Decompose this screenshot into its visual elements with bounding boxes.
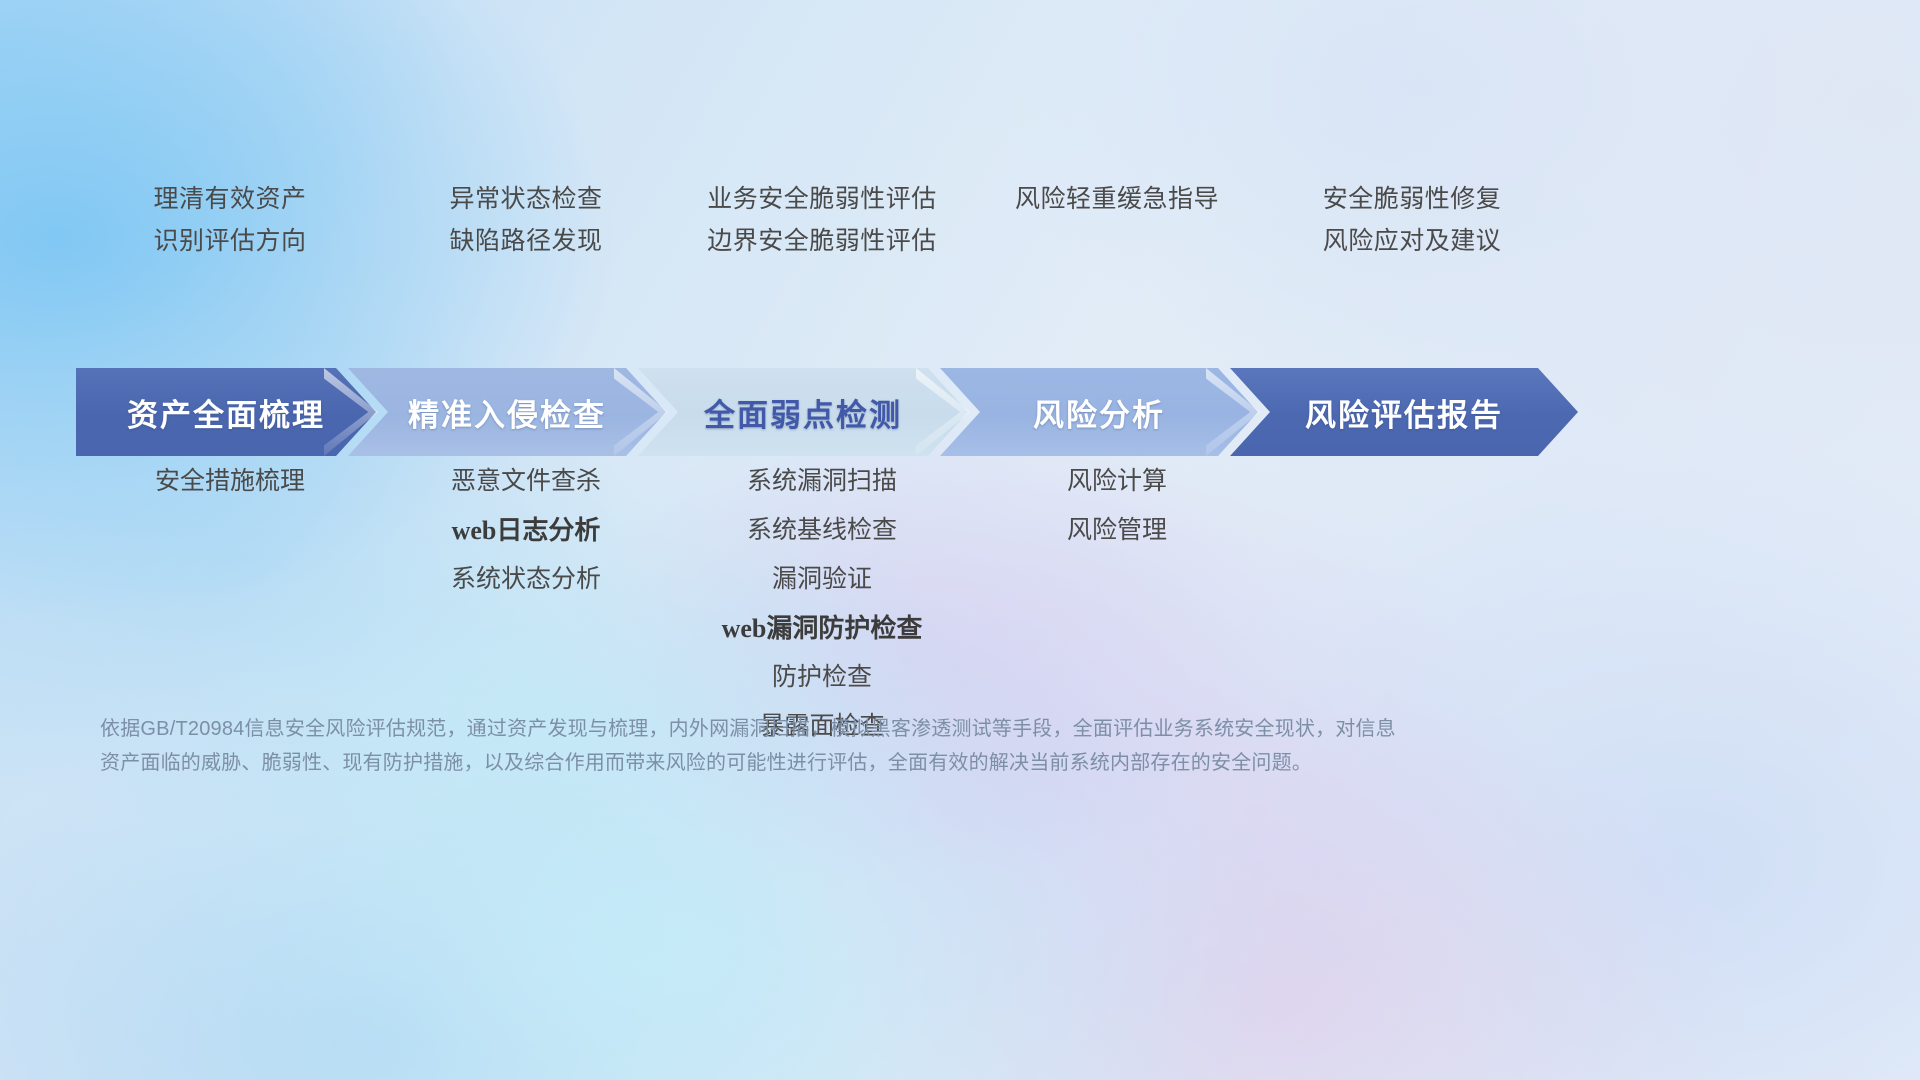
top-caption-2-line-2: 缺陷路径发现 (380, 220, 672, 262)
top-caption-1-line-1: 理清有效资产 (80, 178, 380, 220)
top-caption-1: 理清有效资产 识别评估方向 (80, 178, 380, 262)
list-item: 系统状态分析 (380, 555, 672, 604)
list-item: 防护检查 (672, 653, 972, 702)
top-caption-4-line-1: 风险轻重缓急指导 (972, 178, 1262, 220)
top-caption-5-line-2: 风险应对及建议 (1262, 220, 1562, 262)
stage-chevron-4[interactable]: 风险分析 (940, 368, 1258, 456)
top-caption-2-line-1: 异常状态检查 (380, 178, 672, 220)
stage-chevron-3[interactable]: 全面弱点检测 (638, 368, 968, 456)
top-caption-3-line-1: 业务安全脆弱性评估 (672, 178, 972, 220)
top-caption-4: 风险轻重缓急指导 (972, 178, 1262, 262)
detail-list-3: web安全扫描 系统漏洞扫描 系统基线检查 漏洞验证 web漏洞防护检查 防护检… (672, 408, 972, 751)
stage-label-5: 风险评估报告 (1305, 390, 1503, 435)
footer-description: 依据GB/T20984信息安全风险评估规范，通过资产发现与梳理，内外网漏洞扫描，… (100, 712, 1630, 780)
list-item: 漏洞验证 (672, 555, 972, 604)
stage-label-4: 风险分析 (1033, 390, 1165, 435)
list-item: web日志分析 (380, 506, 672, 555)
stage-chevron-5[interactable]: 风险评估报告 (1230, 368, 1578, 456)
stage-chevron-2[interactable]: 精准入侵检查 (348, 368, 666, 456)
list-item: 安全措施梳理 (80, 457, 380, 506)
top-caption-2: 异常状态检查 缺陷路径发现 (380, 178, 672, 262)
list-item: 风险计算 (972, 457, 1262, 506)
list-item: web漏洞防护检查 (672, 604, 972, 653)
stage-label-1: 资产全面梳理 (127, 390, 325, 435)
list-item: 系统漏洞扫描 (672, 457, 972, 506)
list-item: 恶意文件查杀 (380, 457, 672, 506)
footer-line-1: 依据GB/T20984信息安全风险评估规范，通过资产发现与梳理，内外网漏洞扫描，… (100, 712, 1630, 746)
infographic-content: 理清有效资产 识别评估方向 异常状态检查 缺陷路径发现 业务安全脆弱性评估 边界… (0, 0, 1920, 1080)
stage-chevron-1[interactable]: 资产全面梳理 (76, 368, 376, 456)
footer-line-2: 资产面临的威胁、脆弱性、现有防护措施，以及综合作用而带来风险的可能性进行评估，全… (100, 746, 1630, 780)
list-item: 风险管理 (972, 506, 1262, 555)
stage-label-2: 精准入侵检查 (408, 390, 606, 435)
detail-lists-row: 业务系统梳理 安全措施梳理 webshell检查 恶意文件查杀 web日志分析 … (80, 408, 1840, 751)
top-caption-5: 安全脆弱性修复 风险应对及建议 (1262, 178, 1562, 262)
list-item: 系统基线检查 (672, 506, 972, 555)
top-captions-row: 理清有效资产 识别评估方向 异常状态检查 缺陷路径发现 业务安全脆弱性评估 边界… (80, 178, 1840, 262)
top-caption-3-line-2: 边界安全脆弱性评估 (672, 220, 972, 262)
top-caption-3: 业务安全脆弱性评估 边界安全脆弱性评估 (672, 178, 972, 262)
top-caption-5-line-1: 安全脆弱性修复 (1262, 178, 1562, 220)
top-caption-1-line-2: 识别评估方向 (80, 220, 380, 262)
stage-label-3: 全面弱点检测 (704, 390, 902, 435)
